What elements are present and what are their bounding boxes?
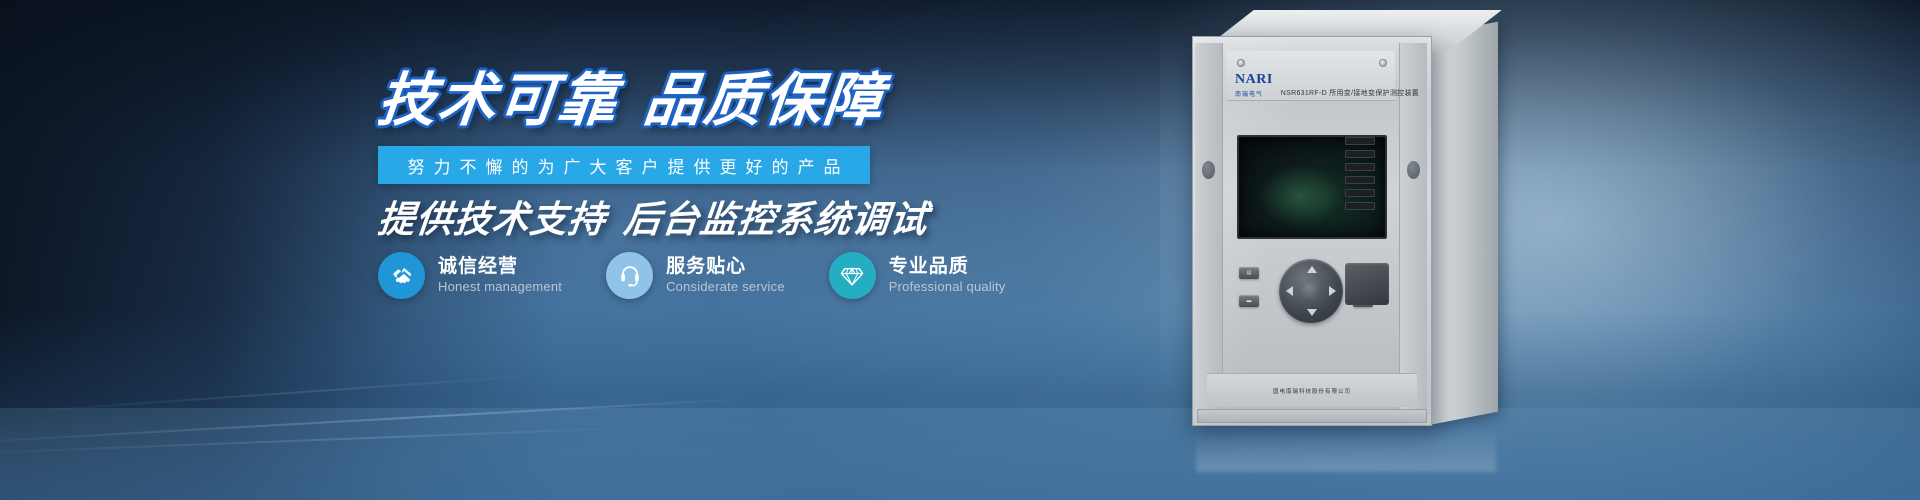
handshake-icon [378, 252, 425, 299]
mount-hole-icon [1407, 161, 1420, 179]
device-led-indicator-column [1345, 137, 1375, 210]
mount-hole-icon [1202, 161, 1215, 179]
headline-primary: 技术可靠品质保障 [375, 72, 911, 130]
feature-title-cn: 诚信经营 [438, 256, 562, 277]
keypad-button-left-top[interactable]: ▤ [1239, 267, 1259, 279]
keypad-button-left-bottom[interactable]: ▬ [1239, 295, 1259, 307]
headline-secondary: 提供技术支持后台监控系统调试 [376, 201, 910, 238]
dpad-center-button[interactable] [1301, 281, 1321, 301]
screw-icon [1379, 59, 1387, 67]
subtitle-text: 努力不懈的为广大客户提供更好的产品 [399, 153, 850, 178]
device-reflection [1196, 426, 1496, 472]
device-front-panel: NARI 南瑞电气 NSR631RF-D 所用变/接地变保护测控装置 ▤ ▬ ▤ [1192, 36, 1432, 426]
feature-text: 诚信经营 Honest management [438, 256, 562, 295]
feature-item-considerate-service[interactable]: 服务贴心 Considerate service [606, 252, 785, 299]
led-indicator [1345, 202, 1375, 210]
subtitle-bar: 努力不懈的为广大客户提供更好的产品 [378, 146, 870, 184]
device-mount-ear-right [1399, 43, 1427, 419]
led-indicator [1345, 163, 1375, 171]
arrow-down-icon[interactable] [1307, 309, 1317, 316]
feature-title-en: Honest management [438, 280, 562, 295]
led-indicator [1345, 176, 1375, 184]
headline-secondary-part1: 提供技术支持 [376, 199, 608, 240]
device-comm-port-panel [1345, 263, 1389, 305]
feature-title-en: Professional quality [889, 280, 1006, 295]
device-footer-plate: 国电南瑞科技股份有限公司 [1207, 373, 1417, 407]
screen-glow [1257, 165, 1343, 227]
led-indicator [1345, 137, 1375, 145]
arrow-right-icon[interactable] [1329, 286, 1336, 296]
feature-item-professional-quality[interactable]: 专业品质 Professional quality [829, 252, 1006, 299]
feature-list: 诚信经营 Honest management 服务贴心 Considerate … [378, 252, 1006, 299]
led-indicator [1345, 189, 1375, 197]
product-device: NARI 南瑞电气 NSR631RF-D 所用变/接地变保护测控装置 ▤ ▬ ▤ [1192, 36, 1492, 426]
feature-title-cn: 专业品质 [889, 256, 1006, 277]
headline-secondary-part2: 后台监控系统调试 [622, 199, 930, 240]
device-branding: NARI 南瑞电气 NSR631RF-D 所用变/接地变保护测控装置 [1235, 73, 1419, 98]
brand-name-cn: 南瑞电气 [1235, 89, 1273, 98]
device-model-label: NSR631RF-D 所用变/接地变保护测控装置 [1281, 90, 1419, 98]
feature-title-cn: 服务贴心 [666, 256, 785, 277]
headset-icon [606, 252, 653, 299]
ground-plane [0, 408, 1920, 500]
feature-text: 专业品质 Professional quality [889, 256, 1006, 295]
headline-primary-part2: 品质保障 [641, 68, 888, 133]
arrow-up-icon[interactable] [1307, 266, 1317, 273]
brand-name: NARI [1235, 73, 1273, 87]
led-indicator [1345, 150, 1375, 158]
screw-icon [1237, 59, 1245, 67]
manufacturer-name: 国电南瑞科技股份有限公司 [1273, 387, 1351, 395]
feature-text: 服务贴心 Considerate service [666, 256, 785, 295]
diamond-icon [829, 252, 876, 299]
feature-title-en: Considerate service [666, 280, 785, 295]
arrow-left-icon[interactable] [1286, 286, 1293, 296]
device-side-panel [1424, 22, 1498, 426]
headline-block: 技术可靠品质保障 努力不懈的为广大客户提供更好的产品 提供技术支持后台监控系统调… [378, 72, 908, 238]
dpad-navigation-cluster[interactable] [1279, 259, 1343, 323]
feature-item-honest-management[interactable]: 诚信经营 Honest management [378, 252, 562, 299]
promo-banner: 技术可靠品质保障 努力不懈的为广大客户提供更好的产品 提供技术支持后台监控系统调… [0, 0, 1920, 500]
brand-logo: NARI 南瑞电气 [1235, 73, 1273, 98]
device-base-rail [1197, 409, 1427, 423]
device-mount-ear-left [1195, 43, 1223, 419]
headline-primary-part1: 技术可靠 [375, 68, 622, 133]
